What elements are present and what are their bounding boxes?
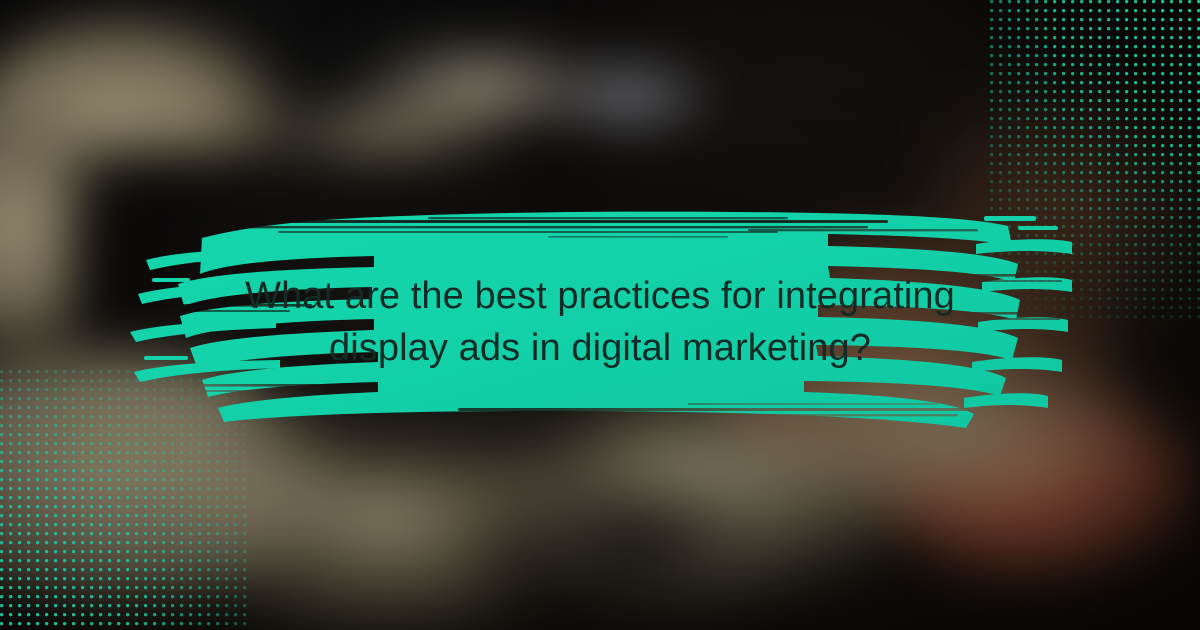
photo-shape-highlight-2 xyxy=(540,60,720,130)
photo-shape-bottom-shadow xyxy=(460,480,820,630)
headline-banner: What are the best practices for integrat… xyxy=(128,186,1072,448)
social-share-card: What are the best practices for integrat… xyxy=(0,0,1200,630)
page-title: What are the best practices for integrat… xyxy=(128,270,1072,374)
